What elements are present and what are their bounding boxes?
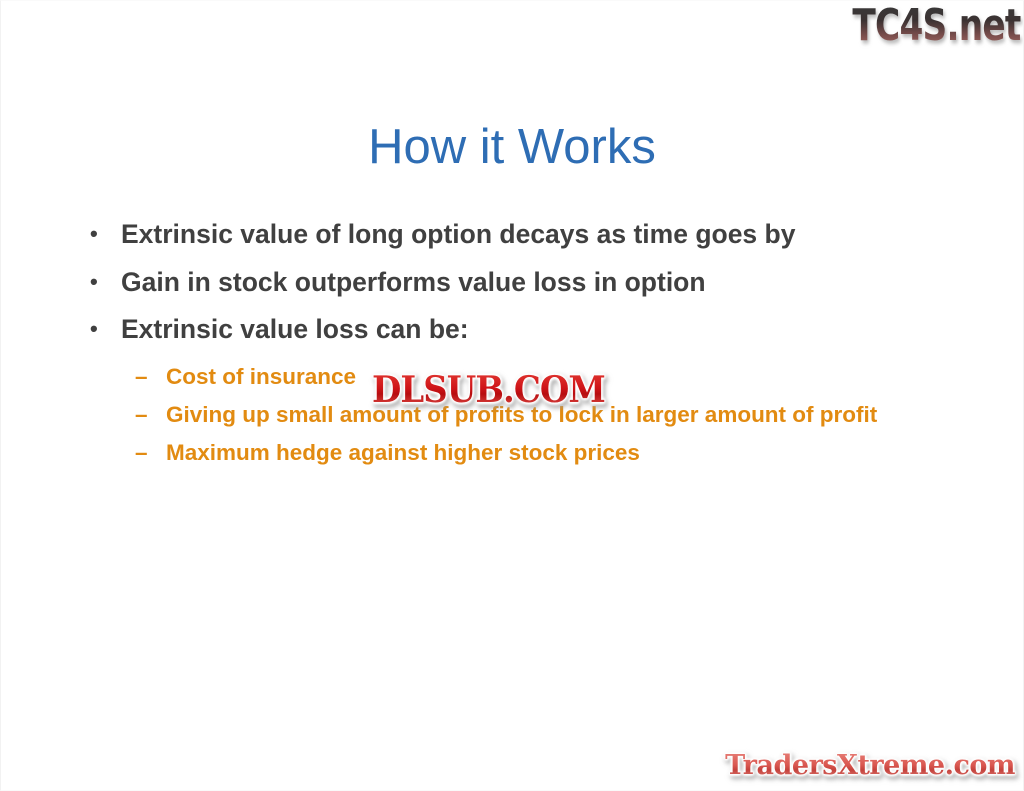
dlsub-watermark: DLSUB.COM	[372, 370, 605, 410]
bullet-list: • Extrinsic value of long option decays …	[81, 217, 961, 476]
tradersxtreme-watermark: TradersXtreme.com	[725, 750, 1015, 782]
bullet-item-level1: • Extrinsic value of long option decays …	[81, 217, 961, 251]
bullet-dash-icon: –	[135, 362, 148, 392]
bullet-text: Extrinsic value of long option decays as…	[121, 219, 795, 249]
bullet-text: Maximum hedge against higher stock price…	[166, 440, 640, 465]
bullet-dot-icon: •	[90, 312, 98, 346]
bullet-dot-icon: •	[90, 265, 98, 299]
bullet-item-level1: • Gain in stock outperforms value loss i…	[81, 265, 961, 299]
bullet-text: Gain in stock outperforms value loss in …	[121, 267, 706, 297]
bullet-item-level2: – Maximum hedge against higher stock pri…	[81, 438, 961, 468]
presentation-slide: TC4S.net How it Works • Extrinsic value …	[0, 0, 1024, 791]
tc4s-watermark: TC4S.net	[853, 3, 1021, 49]
page-title: How it Works	[1, 119, 1023, 175]
bullet-item-level1: • Extrinsic value loss can be:	[81, 312, 961, 346]
bullet-text: Extrinsic value loss can be:	[121, 314, 469, 344]
bullet-dash-icon: –	[135, 400, 148, 430]
bullet-dot-icon: •	[90, 217, 98, 251]
bullet-text: Cost of insurance	[166, 364, 356, 389]
bullet-dash-icon: –	[135, 438, 148, 468]
